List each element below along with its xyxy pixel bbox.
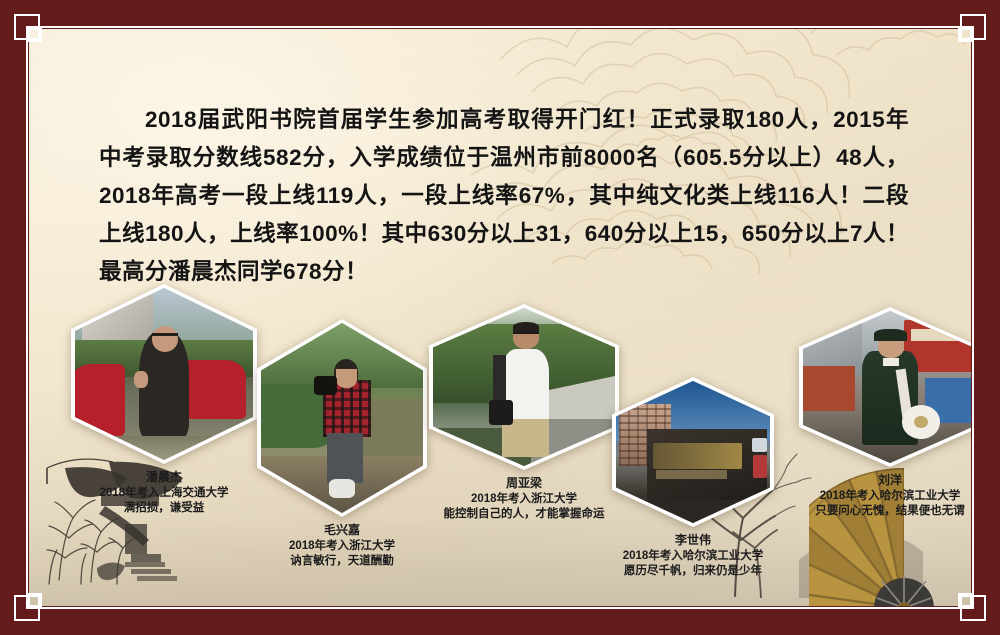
student-caption: 毛兴嘉 2018年考入浙江大学 讷言敏行，天道酬勤	[257, 523, 427, 570]
student-card-zhou-yaliang[interactable]: 周亚梁 2018年考入浙江大学 能控制自己的人，才能掌握命运	[429, 304, 619, 523]
corner-square-small-icon	[958, 593, 972, 607]
student-photo-pan-chenjie	[75, 288, 253, 460]
student-name: 潘晨杰	[71, 470, 257, 486]
student-motto: 讷言敏行，天道酬勤	[257, 554, 427, 570]
student-card-li-shiwei[interactable]: 李世伟 2018年考入哈尔滨工业大学 愿历尽千帆，归来仍是少年	[612, 377, 774, 580]
student-photo-frame	[799, 307, 971, 467]
corner-square-small-icon	[958, 28, 972, 42]
student-motto: 只要问心无愧，结果便也无谓	[799, 504, 971, 520]
student-card-liu-yang[interactable]: 刘洋 2018年考入哈尔滨工业大学 只要问心无愧，结果便也无谓	[799, 307, 971, 520]
student-caption: 李世伟 2018年考入哈尔滨工业大学 愿历尽千帆，归来仍是少年	[612, 533, 774, 580]
poster-paper-background: 2018届武阳书院首届学生参加高考取得开门红！正式录取180人，2015年中考录…	[29, 29, 971, 606]
student-caption: 潘晨杰 2018年考入上海交通大学 满招损，谦受益	[71, 470, 257, 517]
student-university: 2018年考入浙江大学	[257, 539, 427, 555]
student-photo-zhou-yaliang	[433, 308, 615, 466]
student-name: 刘洋	[799, 473, 971, 489]
corner-ornament-bottom-left	[14, 581, 54, 621]
student-photo-frame	[71, 284, 257, 464]
student-university: 2018年考入上海交通大学	[71, 486, 257, 502]
student-card-mao-xingjia[interactable]: 毛兴嘉 2018年考入浙江大学 讷言敏行，天道酬勤	[257, 319, 427, 570]
corner-ornament-bottom-right	[946, 581, 986, 621]
corner-ornament-top-right	[946, 14, 986, 54]
student-university: 2018年考入哈尔滨工业大学	[612, 549, 774, 565]
student-caption: 刘洋 2018年考入哈尔滨工业大学 只要问心无愧，结果便也无谓	[799, 473, 971, 520]
student-name: 李世伟	[612, 533, 774, 549]
student-university: 2018年考入浙江大学	[429, 492, 619, 508]
student-caption: 周亚梁 2018年考入浙江大学 能控制自己的人，才能掌握命运	[429, 476, 619, 523]
corner-square-small-icon	[28, 28, 42, 42]
student-motto: 能控制自己的人，才能掌握命运	[429, 507, 619, 523]
student-gallery: 潘晨杰 2018年考入上海交通大学 满招损，谦受益	[29, 29, 971, 606]
student-card-pan-chenjie[interactable]: 潘晨杰 2018年考入上海交通大学 满招损，谦受益	[71, 284, 257, 517]
student-motto: 愿历尽千帆，归来仍是少年	[612, 564, 774, 580]
student-name: 毛兴嘉	[257, 523, 427, 539]
student-photo-frame	[257, 319, 427, 517]
poster-root: 2018届武阳书院首届学生参加高考取得开门红！正式录取180人，2015年中考录…	[0, 0, 1000, 635]
student-name: 周亚梁	[429, 476, 619, 492]
corner-ornament-top-left	[14, 14, 54, 54]
student-university: 2018年考入哈尔滨工业大学	[799, 489, 971, 505]
student-photo-mao-xingjia	[261, 323, 423, 513]
corner-square-small-icon	[28, 593, 42, 607]
student-motto: 满招损，谦受益	[71, 501, 257, 517]
student-photo-frame	[612, 377, 774, 527]
student-photo-frame	[429, 304, 619, 470]
